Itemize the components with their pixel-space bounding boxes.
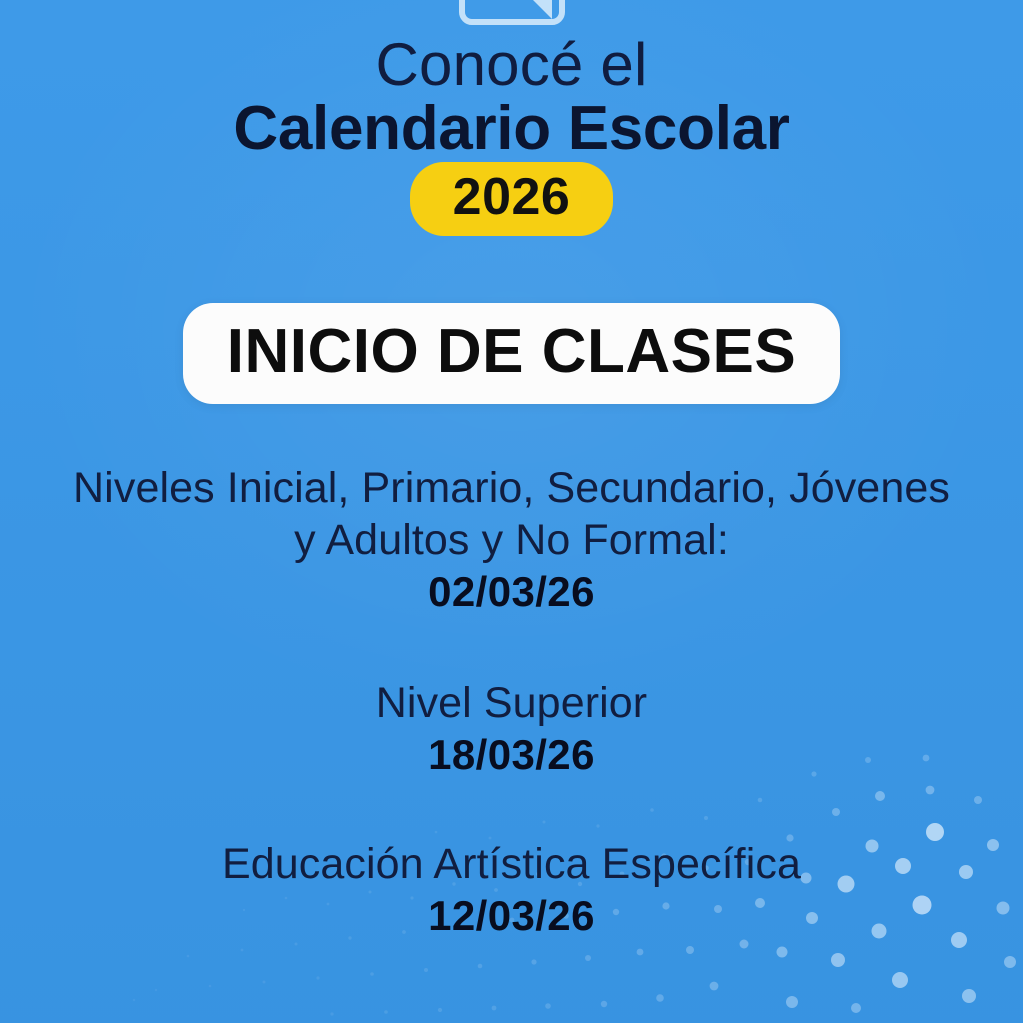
- year-badge: 2026: [410, 162, 614, 236]
- list-item: Niveles Inicial, Primario, Secundario, J…: [0, 462, 1023, 617]
- entry-date: 18/03/26: [0, 730, 1023, 780]
- page-title: Calendario Escolar: [0, 96, 1023, 161]
- start-dates-list: Niveles Inicial, Primario, Secundario, J…: [0, 462, 1023, 941]
- entry-label: Educación Artística Específica: [0, 838, 1023, 890]
- inicio-banner-wrap: INICIO DE CLASES: [0, 303, 1023, 404]
- entry-date: 12/03/26: [0, 891, 1023, 941]
- spacer: [0, 617, 1023, 677]
- entry-date: 02/03/26: [0, 567, 1023, 617]
- year-badge-wrap: 2026: [0, 162, 1023, 236]
- poster-canvas: Conocé el Calendario Escolar 2026 INICIO…: [0, 0, 1023, 1023]
- banner-label: INICIO DE CLASES: [227, 319, 797, 384]
- poster-content: Conocé el Calendario Escolar 2026 INICIO…: [0, 0, 1023, 1023]
- inicio-de-clases-banner: INICIO DE CLASES: [183, 303, 841, 404]
- calendar-icon: [456, 0, 568, 30]
- eyebrow-text: Conocé el: [0, 33, 1023, 96]
- entry-label: Nivel Superior: [0, 677, 1023, 729]
- spacer: [0, 780, 1023, 838]
- list-item: Nivel Superior 18/03/26: [0, 677, 1023, 780]
- list-item: Educación Artística Específica 12/03/26: [0, 838, 1023, 941]
- entry-label: Niveles Inicial, Primario, Secundario, J…: [0, 462, 1023, 567]
